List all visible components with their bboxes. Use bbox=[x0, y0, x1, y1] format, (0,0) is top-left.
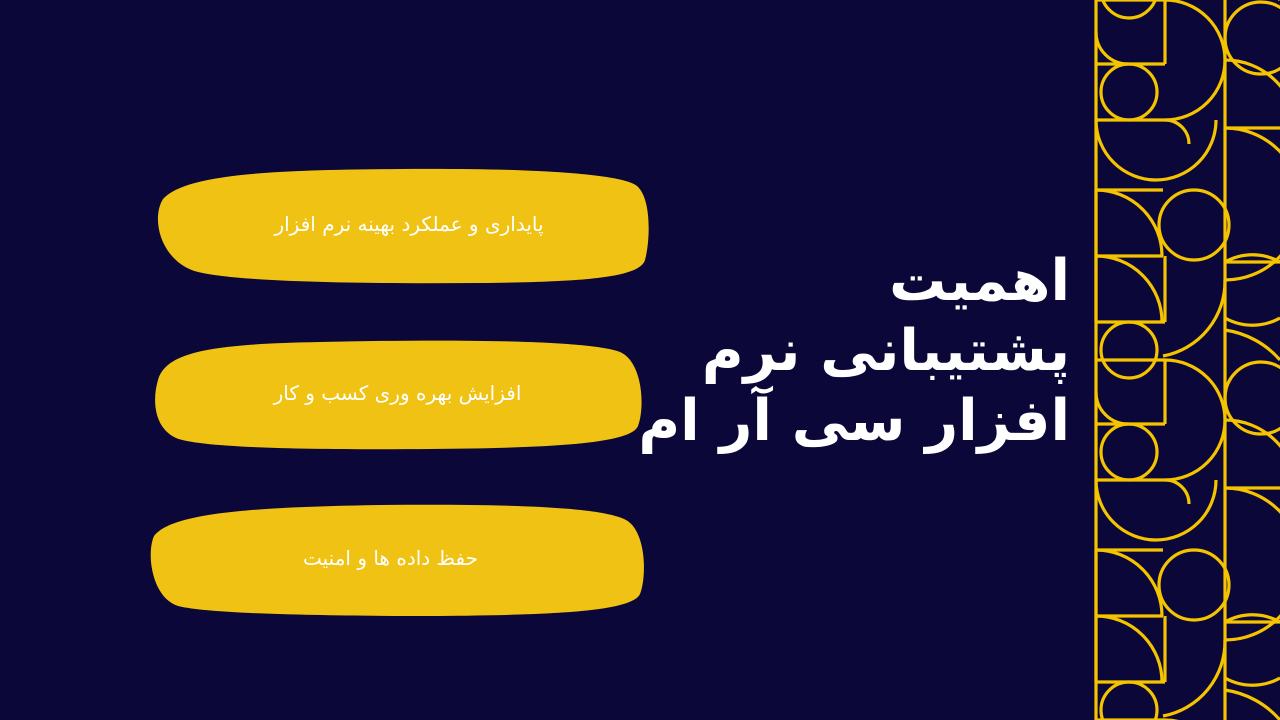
decorative-pattern-strip bbox=[1093, 0, 1280, 720]
benefit-blob-3[interactable]: حفظ داده ها و امنیت bbox=[150, 504, 647, 616]
page-title-line-3: افزار سی آر ام bbox=[640, 386, 1070, 456]
benefit-blob-2-label: افزایش بهره وری کسب و کار bbox=[252, 379, 544, 407]
page-title-line-2: پشتیبانی نرم bbox=[640, 316, 1070, 386]
benefit-blob-2[interactable]: افزایش بهره وری کسب و کار bbox=[150, 338, 645, 450]
slide-canvas: اهمیت پشتیبانی نرم افزار سی آر ام پایدار… bbox=[0, 0, 1280, 720]
page-title-line-1: اهمیت bbox=[640, 246, 1070, 316]
page-title: اهمیت پشتیبانی نرم افزار سی آر ام bbox=[640, 246, 1070, 456]
benefit-blob-1-label: پایداری و عملکرد بهینه نرم افزار bbox=[252, 210, 565, 238]
benefit-blob-3-label: حفظ داده ها و امنیت bbox=[281, 544, 500, 572]
geometric-pattern-icon bbox=[1093, 0, 1280, 720]
benefit-blob-1[interactable]: پایداری و عملکرد بهینه نرم افزار bbox=[150, 168, 652, 284]
